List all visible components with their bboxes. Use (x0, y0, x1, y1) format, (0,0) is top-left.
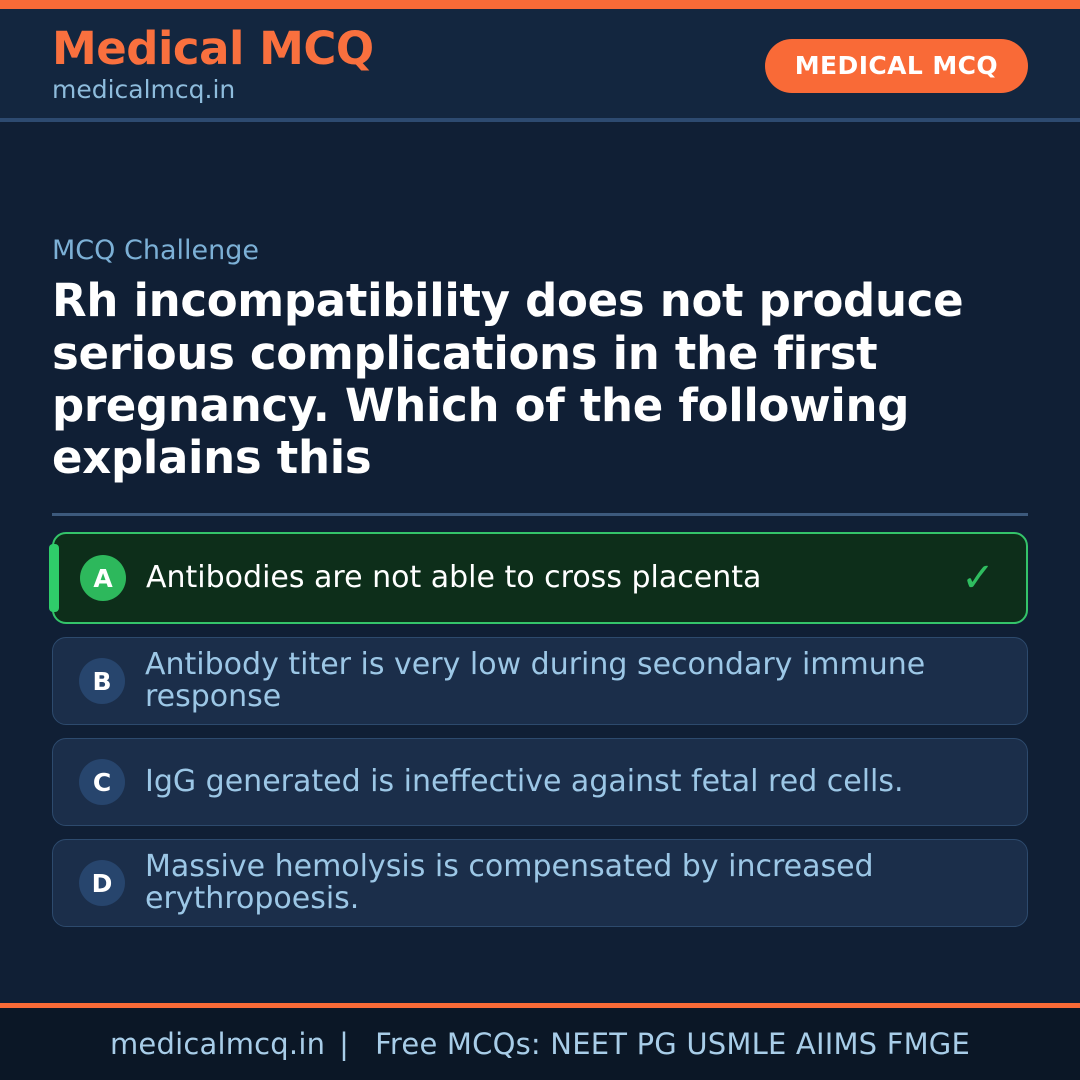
footer-tagline: Free MCQs: NEET PG USMLE AIIMS FMGE (363, 1027, 970, 1061)
option-a-text: Antibodies are not able to cross placent… (146, 562, 956, 594)
brand-title: Medical MCQ (52, 26, 374, 72)
option-b-text: Antibody titer is very low during second… (145, 649, 957, 714)
eyebrow-label: MCQ Challenge (52, 235, 1028, 267)
option-c[interactable]: C IgG generated is ineffective against f… (52, 738, 1028, 826)
brand-block: Medical MCQ medicalmcq.in (52, 26, 374, 105)
footer-text: medicalmcq.in|Free MCQs: NEET PG USMLE A… (110, 1027, 970, 1061)
option-c-letter-badge: C (79, 759, 125, 805)
top-accent-bar (0, 0, 1080, 9)
option-a[interactable]: A Antibodies are not able to cross place… (52, 532, 1028, 624)
option-d-letter-badge: D (79, 860, 125, 906)
page-header: Medical MCQ medicalmcq.in MEDICAL MCQ (0, 9, 1080, 122)
footer-site: medicalmcq.in (110, 1027, 325, 1061)
option-c-text: IgG generated is ineffective against fet… (145, 766, 957, 798)
question-text: Rh incompatibility does not produce seri… (52, 275, 1012, 484)
option-d-text: Massive hemolysis is compensated by incr… (145, 851, 957, 916)
brand-subtitle: medicalmcq.in (52, 74, 374, 105)
option-d[interactable]: D Massive hemolysis is compensated by in… (52, 839, 1028, 927)
check-icon: ✓ (956, 558, 1000, 598)
section-divider (52, 513, 1028, 516)
brand-badge: MEDICAL MCQ (765, 39, 1028, 93)
page-footer: medicalmcq.in|Free MCQs: NEET PG USMLE A… (0, 1003, 1080, 1080)
option-b[interactable]: B Antibody titer is very low during seco… (52, 637, 1028, 725)
option-a-letter-badge: A (80, 555, 126, 601)
option-b-letter-badge: B (79, 658, 125, 704)
main-content: MCQ Challenge Rh incompatibility does no… (0, 122, 1080, 1003)
footer-separator: | (325, 1027, 363, 1061)
answer-options-list: A Antibodies are not able to cross place… (52, 532, 1028, 927)
